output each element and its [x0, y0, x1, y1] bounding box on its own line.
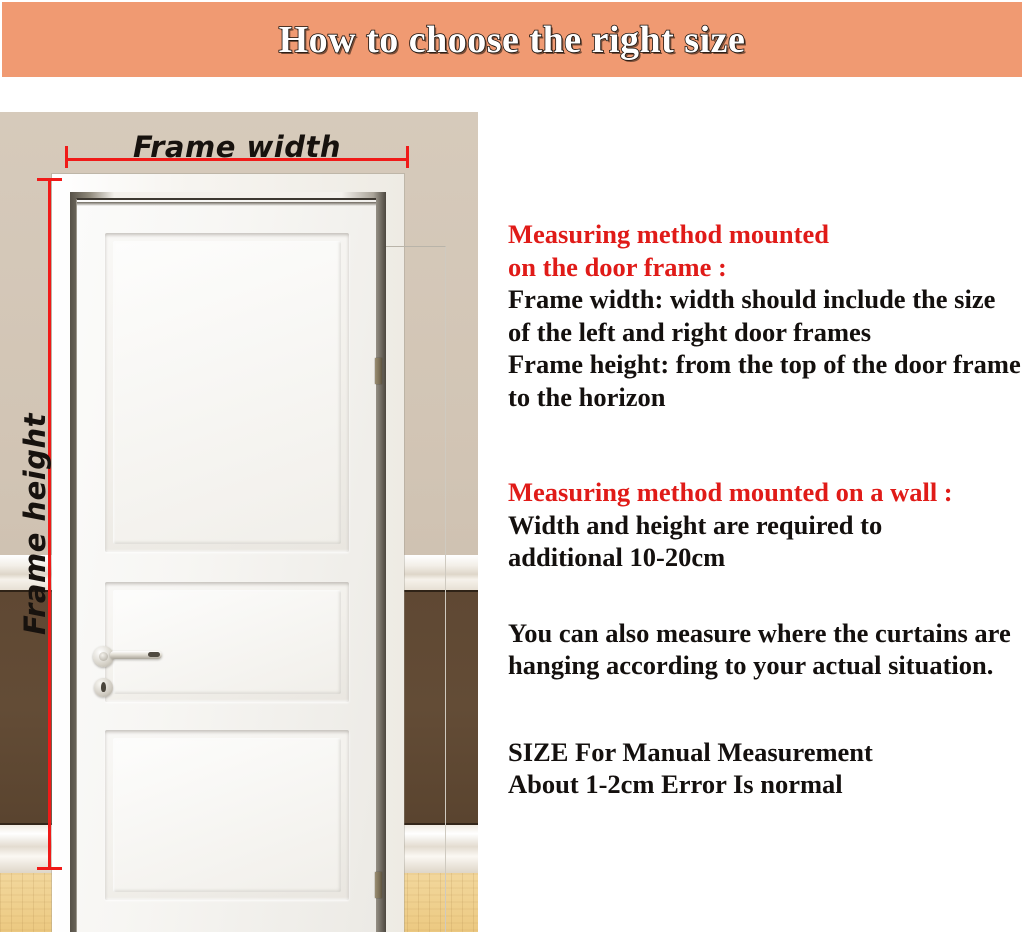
frame-height-label: Frame height: [18, 394, 52, 654]
heading-line: on the door frame :: [508, 251, 1024, 284]
frame-height-end-cap-top: [37, 178, 62, 181]
door-photo-illustration: Frame width Frame height: [0, 112, 478, 932]
body-line: SIZE For Manual Measurement: [508, 736, 1024, 769]
frame-width-label: Frame width: [133, 130, 341, 164]
heading-line: Measuring method mounted on a wall :: [508, 476, 1024, 509]
page-title: How to choose the right size: [279, 18, 746, 62]
body-line: hanging according to your actual situati…: [508, 649, 1024, 682]
body-line: Frame height: from the top of the door f…: [508, 348, 1024, 381]
dimension-annotation-layer: Frame width Frame height: [0, 112, 478, 932]
header-banner: How to choose the right size: [2, 2, 1022, 77]
block-spacer: [508, 574, 1024, 617]
body-line: About 1-2cm Error Is normal: [508, 768, 1024, 801]
instructions-text-column: Measuring method mounted on the door fra…: [508, 218, 1024, 801]
instruction-block-wall-method: Measuring method mounted on a wall : Wid…: [508, 476, 1024, 574]
block-spacer: [508, 682, 1024, 736]
body-line: of the left and right door frames: [508, 316, 1024, 349]
frame-height-end-cap-bottom: [37, 867, 62, 870]
frame-width-end-cap-left: [65, 146, 68, 168]
frame-width-end-cap-right: [406, 146, 409, 168]
instruction-block-door-frame-method: Measuring method mounted on the door fra…: [508, 218, 1024, 413]
body-line: to the horizon: [508, 381, 1024, 414]
heading-line: Measuring method mounted: [508, 218, 1024, 251]
body-line: You can also measure where the curtains …: [508, 617, 1024, 650]
block-spacer: [508, 413, 1024, 476]
instruction-block-curtain-note: You can also measure where the curtains …: [508, 617, 1024, 682]
body-line: additional 10-20cm: [508, 541, 1024, 574]
body-line: Width and height are required to: [508, 509, 1024, 542]
body-line: Frame width: width should include the si…: [508, 283, 1024, 316]
instruction-block-tolerance-note: SIZE For Manual Measurement About 1-2cm …: [508, 736, 1024, 801]
